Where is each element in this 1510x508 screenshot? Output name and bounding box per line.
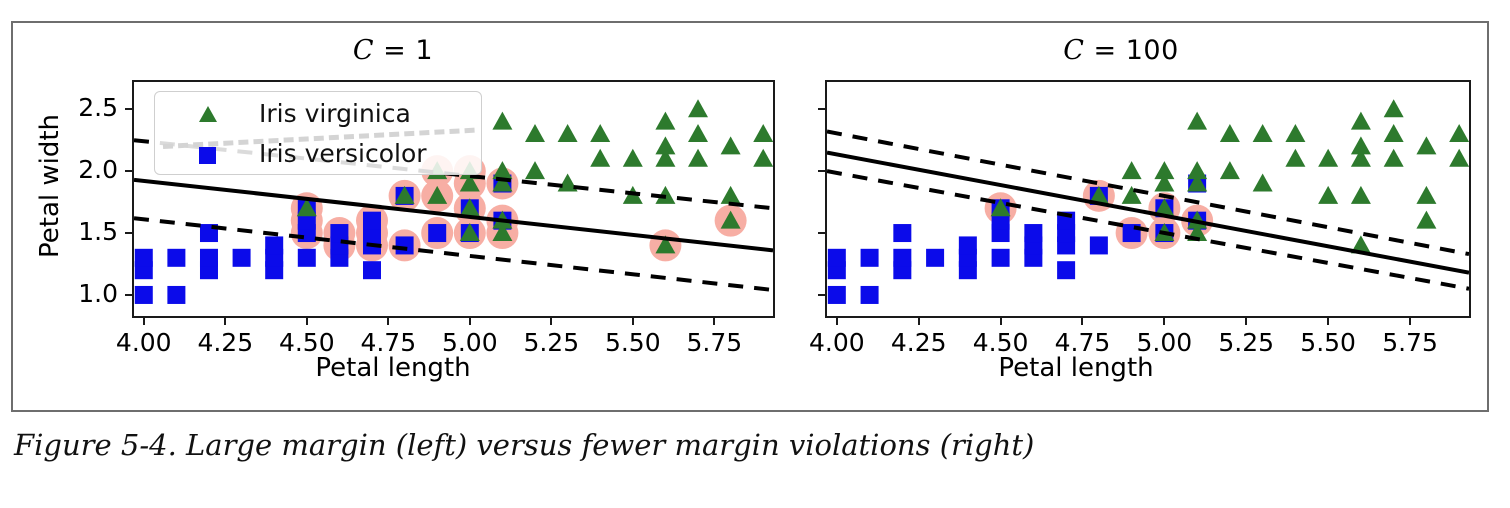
versicolor-point xyxy=(428,224,446,242)
triangle-icon xyxy=(199,106,217,122)
versicolor-point xyxy=(396,236,414,254)
x-axis-tick xyxy=(1409,318,1411,325)
virginica-point xyxy=(1220,124,1240,142)
virginica-point xyxy=(688,149,708,167)
y-axis-tick xyxy=(125,170,132,172)
versicolor-point xyxy=(135,286,153,304)
virginica-point xyxy=(590,149,610,167)
virginica-point xyxy=(1187,161,1207,179)
virginica-point xyxy=(1318,149,1338,167)
x-axis-tick xyxy=(918,318,920,325)
x-axis-tick xyxy=(1327,318,1329,325)
versicolor-point xyxy=(363,261,381,279)
x-axis-tick xyxy=(836,318,838,325)
panel-title-symbol: C xyxy=(1063,35,1084,66)
virginica-point xyxy=(1384,99,1404,117)
plot-canvas-right xyxy=(827,82,1469,316)
virginica-point xyxy=(1285,149,1305,167)
panel-title-equals: = xyxy=(383,35,406,66)
virginica-point xyxy=(1351,136,1371,154)
virginica-point xyxy=(558,124,578,142)
virginica-point xyxy=(655,136,675,154)
panel-title-value: 100 xyxy=(1126,35,1179,66)
y-axis-tick xyxy=(125,232,132,234)
virginica-point xyxy=(1187,112,1207,130)
square-icon xyxy=(199,147,216,164)
versicolor-point xyxy=(298,249,316,267)
versicolor-point xyxy=(233,249,251,267)
x-axis-tick xyxy=(306,318,308,325)
virginica-point xyxy=(1384,149,1404,167)
x-axis-label-right: Petal length xyxy=(706,353,1446,383)
virginica-point xyxy=(1449,149,1469,167)
versicolor-point xyxy=(828,249,846,267)
y-axis-tick xyxy=(125,108,132,110)
versicolor-point xyxy=(330,224,348,242)
virginica-point xyxy=(655,112,675,130)
virginica-point xyxy=(1220,161,1240,179)
x-axis-tick xyxy=(1081,318,1083,325)
y-axis-label-left: Petal width xyxy=(35,114,65,258)
plot-area-right xyxy=(825,80,1471,318)
panel-c-100: C = 100 4.004.254.504.755.005.255.505.75… xyxy=(751,23,1491,414)
legend-label-versicolor: Iris versicolor xyxy=(259,139,427,168)
versicolor-point xyxy=(200,249,218,267)
figure-frame: C = 1 Iris virginica Iris versicolor 4.0… xyxy=(11,21,1489,412)
legend-box: Iris virginica Iris versicolor xyxy=(154,91,482,175)
virginica-point xyxy=(1416,136,1436,154)
virginica-point xyxy=(1318,186,1338,204)
x-axis-tick xyxy=(713,318,715,325)
virginica-point xyxy=(721,136,741,154)
virginica-point xyxy=(1351,112,1371,130)
versicolor-point xyxy=(167,249,185,267)
x-axis-tick xyxy=(224,318,226,325)
virginica-point xyxy=(525,124,545,142)
panel-title-right: C = 100 xyxy=(751,35,1491,66)
virginica-point xyxy=(1253,124,1273,142)
versicolor-point xyxy=(893,224,911,242)
versicolor-point xyxy=(135,249,153,267)
panel-title-symbol: C xyxy=(353,35,374,66)
y-axis-tick xyxy=(125,294,132,296)
virginica-point xyxy=(1416,211,1436,229)
x-axis-tick xyxy=(1000,318,1002,325)
x-axis-tick xyxy=(550,318,552,325)
virginica-point xyxy=(1449,124,1469,142)
x-axis-tick xyxy=(1245,318,1247,325)
legend-row-versicolor: Iris versicolor xyxy=(155,134,481,176)
versicolor-point xyxy=(893,249,911,267)
y-axis-tick xyxy=(818,294,825,296)
panel-title-value: 1 xyxy=(415,35,433,66)
panel-c-1: C = 1 Iris virginica Iris versicolor 4.0… xyxy=(13,23,773,414)
legend-row-virginica: Iris virginica xyxy=(155,94,481,136)
panel-title-left: C = 1 xyxy=(13,35,773,66)
x-axis-tick xyxy=(143,318,145,325)
figure-caption: Figure 5-4. Large margin (left) versus f… xyxy=(14,428,1494,462)
versicolor-point xyxy=(1024,224,1042,242)
versicolor-point xyxy=(959,236,977,254)
virginica-point xyxy=(1384,124,1404,142)
x-axis-tick xyxy=(469,318,471,325)
legend-label-virginica: Iris virginica xyxy=(259,99,411,128)
virginica-point xyxy=(1154,161,1174,179)
versicolor-point xyxy=(828,286,846,304)
virginica-point xyxy=(721,186,741,204)
y-axis-tick xyxy=(818,108,825,110)
virginica-point xyxy=(1416,186,1436,204)
x-axis-tick xyxy=(1163,318,1165,325)
versicolor-point xyxy=(363,212,381,230)
y-axis-tick-label: 1.0 xyxy=(48,279,118,308)
versicolor-point xyxy=(167,286,185,304)
virginica-point xyxy=(1253,174,1273,192)
versicolor-point xyxy=(861,286,879,304)
virginica-point xyxy=(1122,161,1142,179)
versicolor-point xyxy=(1057,261,1075,279)
x-axis-tick xyxy=(632,318,634,325)
virginica-point xyxy=(688,124,708,142)
plot-area-left: Iris virginica Iris versicolor xyxy=(132,80,775,318)
panel-title-equals: = xyxy=(1094,35,1117,66)
y-axis-tick xyxy=(818,232,825,234)
versicolor-point xyxy=(926,249,944,267)
versicolor-point xyxy=(861,249,879,267)
y-axis-tick xyxy=(818,170,825,172)
virginica-point xyxy=(688,99,708,117)
versicolor-point xyxy=(1090,236,1108,254)
versicolor-point xyxy=(992,249,1010,267)
versicolor-point xyxy=(265,236,283,254)
virginica-point xyxy=(1351,186,1371,204)
virginica-point xyxy=(590,124,610,142)
x-axis-tick xyxy=(387,318,389,325)
virginica-point xyxy=(492,112,512,130)
virginica-point xyxy=(525,161,545,179)
virginica-point xyxy=(1122,186,1142,204)
virginica-point xyxy=(623,149,643,167)
virginica-point xyxy=(1285,124,1305,142)
x-axis-label-left: Petal length xyxy=(13,353,773,383)
